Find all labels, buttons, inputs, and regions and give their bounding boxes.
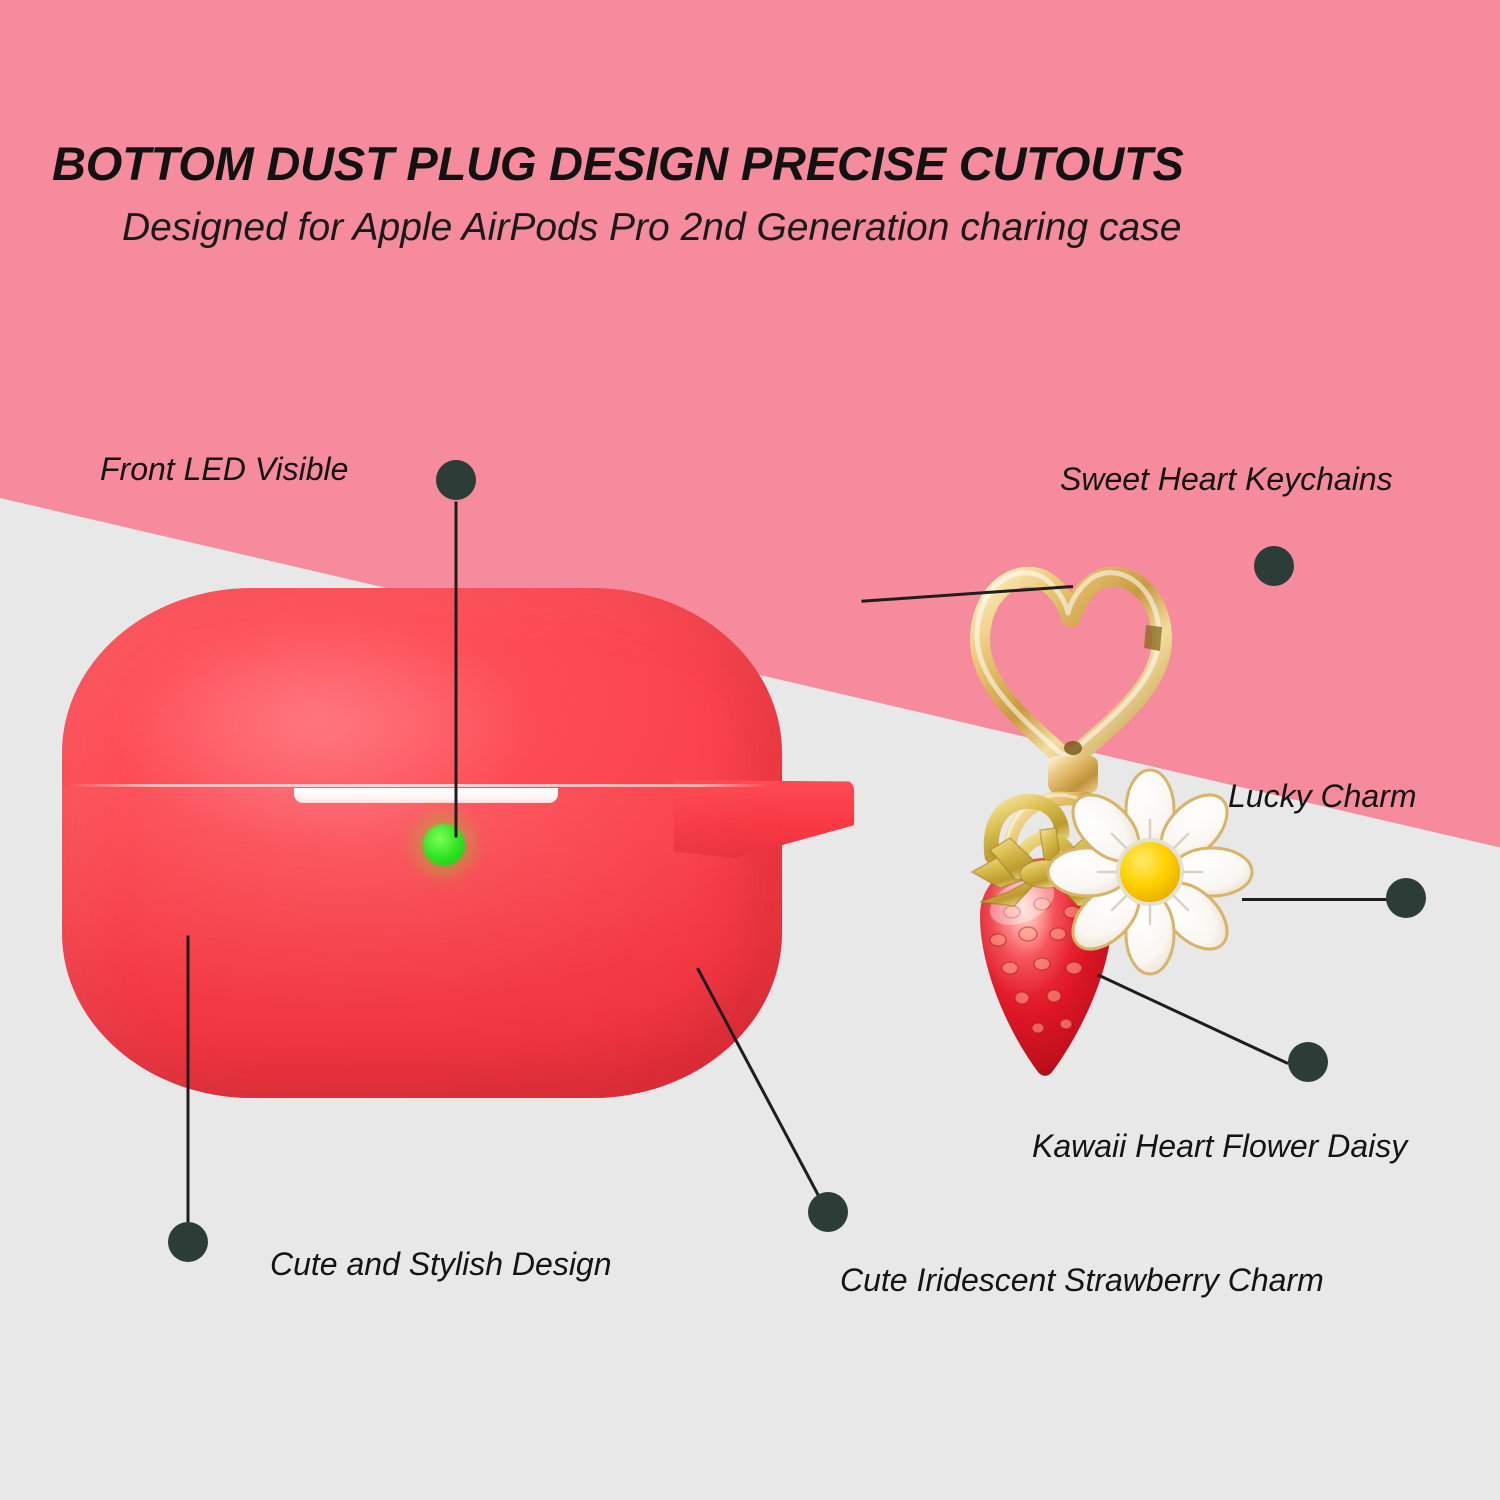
callout-dot-cute-iridescent-strawberry-charm[interactable]	[808, 1192, 848, 1232]
callout-dot-kawaii-heart-flower-daisy[interactable]	[1288, 1042, 1328, 1082]
callout-label-cute-and-stylish-design: Cute and Stylish Design	[270, 1246, 612, 1283]
callout-dot-lucky-charm[interactable]	[1386, 878, 1426, 918]
status-led-icon	[423, 824, 465, 866]
callout-label-cute-iridescent-strawberry-charm: Cute Iridescent Strawberry Charm	[840, 1262, 1324, 1299]
heart-clasp-icon	[977, 573, 1162, 806]
callout-dot-sweet-heart-keychains[interactable]	[1254, 546, 1294, 586]
callout-label-kawaii-heart-flower-daisy: Kawaii Heart Flower Daisy	[1032, 1128, 1407, 1165]
daisy-charm-icon	[1048, 770, 1252, 974]
callout-leader-front-led-visible	[455, 502, 458, 838]
keychain-svg	[850, 520, 1330, 1160]
product-infographic: BOTTOM DUST PLUG DESIGN PRECISE CUTOUTS …	[0, 0, 1500, 1500]
keychain-illustration	[850, 520, 1330, 1160]
callout-leader-lucky-charm	[1242, 898, 1402, 901]
case-lid-seam	[68, 784, 768, 787]
callout-label-sweet-heart-keychains: Sweet Heart Keychains	[1060, 461, 1393, 498]
callout-leader-cute-and-stylish-design	[187, 936, 190, 1244]
callout-label-front-led-visible: Front LED Visible	[100, 451, 348, 488]
callout-label-lucky-charm: Lucky Charm	[1228, 778, 1417, 815]
page-title: BOTTOM DUST PLUG DESIGN PRECISE CUTOUTS	[52, 136, 1452, 191]
callout-dot-cute-and-stylish-design[interactable]	[168, 1222, 208, 1262]
page-subtitle: Designed for Apple AirPods Pro 2nd Gener…	[122, 206, 1462, 250]
callout-dot-front-led-visible[interactable]	[436, 460, 476, 500]
